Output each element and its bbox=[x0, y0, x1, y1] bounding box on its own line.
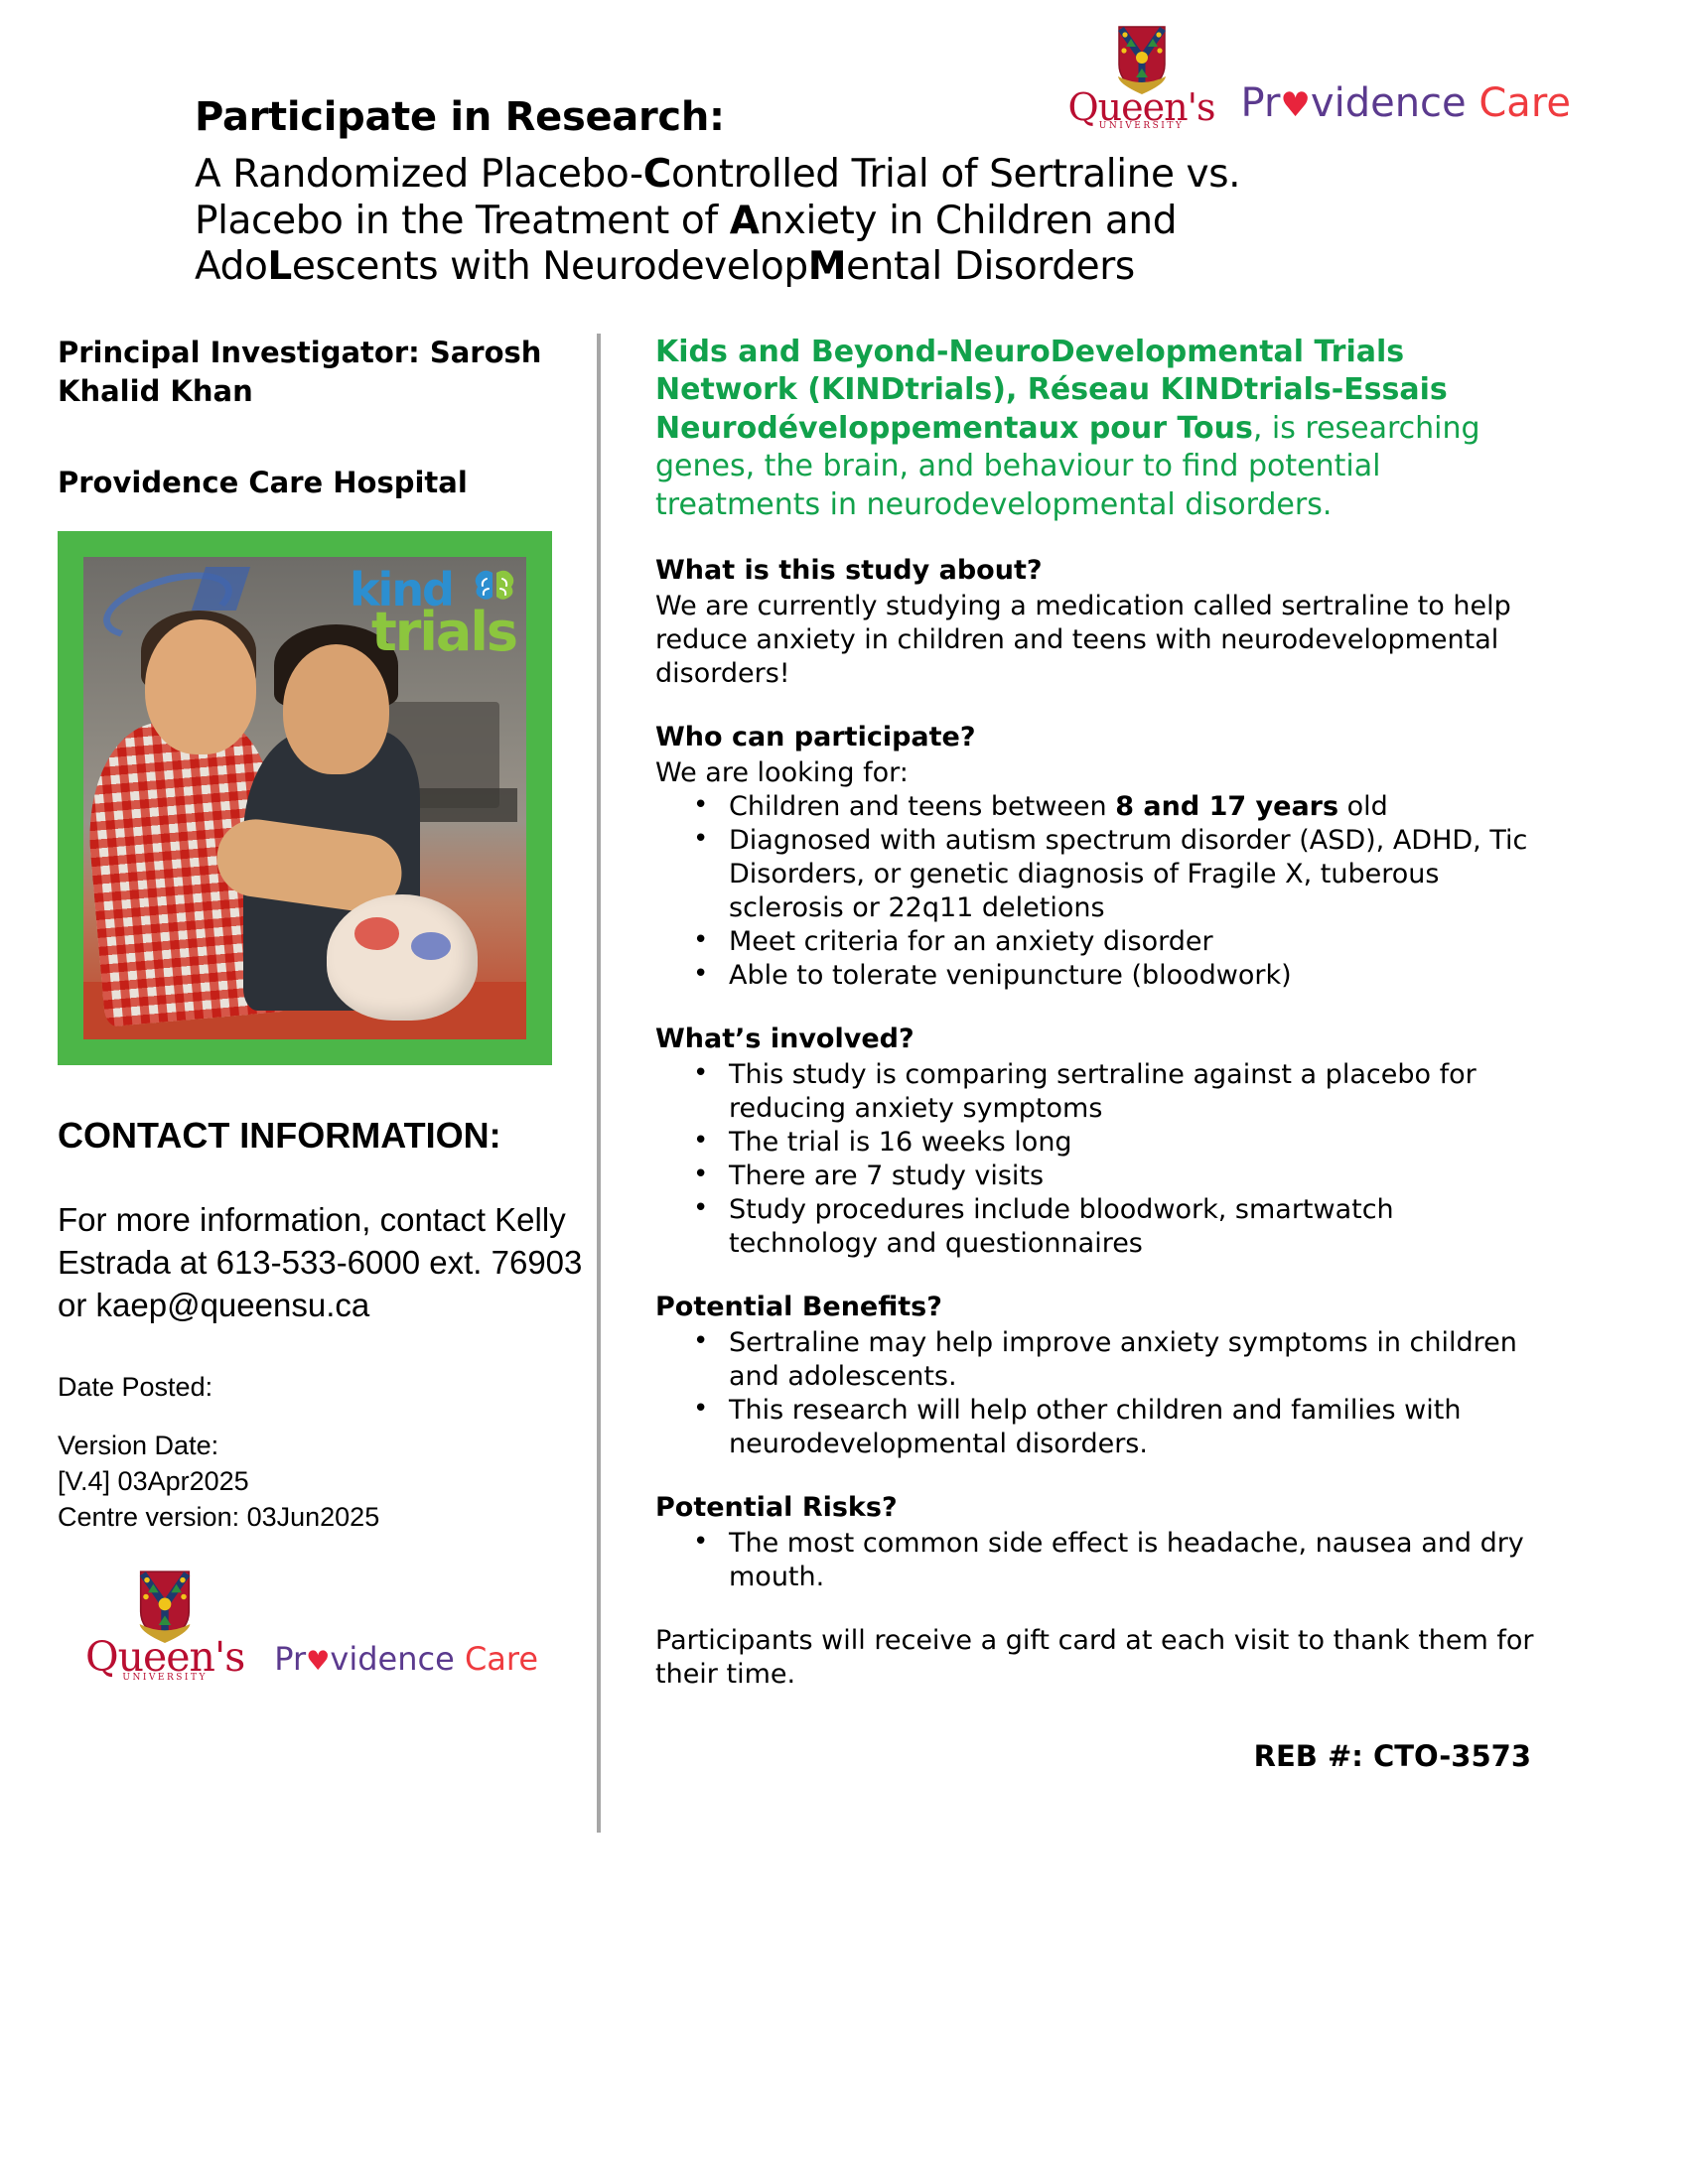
section-3: Potential Benefits?Sertraline may help i… bbox=[655, 1291, 1539, 1461]
page-title: A Randomized Placebo-Controlled Trial of… bbox=[195, 152, 1376, 291]
trials-word: trials bbox=[371, 610, 516, 654]
footer-logos: Queen's UNIVERSITY Pr♥vidence Care bbox=[85, 1570, 594, 1683]
section-heading: What’s involved? bbox=[655, 1023, 1539, 1056]
providence-care-word-footer: Care bbox=[465, 1640, 538, 1678]
title-part-0: A Randomized Placebo- bbox=[195, 152, 643, 197]
list-item-emphasis: 8 and 17 years bbox=[1115, 791, 1338, 822]
list-item: Sertraline may help improve anxiety symp… bbox=[729, 1326, 1539, 1394]
date-posted-label: Date Posted: bbox=[58, 1369, 594, 1405]
date-gap bbox=[58, 1406, 594, 1428]
section-paragraph: We are currently studying a medication c… bbox=[655, 590, 1539, 691]
list-item: The trial is 16 weeks long bbox=[729, 1126, 1539, 1160]
queens-university-logo-footer: Queen's UNIVERSITY bbox=[85, 1570, 244, 1683]
list-item-text-tail: old bbox=[1338, 791, 1388, 822]
section-2: What’s involved?This study is comparing … bbox=[655, 1023, 1539, 1261]
list-item-text: Able to tolerate venipuncture (bloodwork… bbox=[729, 960, 1292, 991]
title-part-7: M bbox=[808, 244, 846, 289]
section-0: What is this study about?We are currentl… bbox=[655, 554, 1539, 691]
right-column: Kids and Beyond-NeuroDevelopmental Trial… bbox=[655, 334, 1539, 1773]
list-item-text: The most common side effect is headache,… bbox=[729, 1528, 1524, 1592]
list-item-text: Sertraline may help improve anxiety symp… bbox=[729, 1327, 1517, 1392]
section-bullet-list: This study is comparing sertraline again… bbox=[655, 1058, 1539, 1261]
heart-icon-footer: ♥ bbox=[306, 1646, 330, 1677]
queens-wordmark-sub-footer: UNIVERSITY bbox=[122, 1673, 208, 1683]
list-item: Diagnosed with autism spectrum disorder … bbox=[729, 824, 1539, 925]
gift-card-note: Participants will receive a gift card at… bbox=[655, 1624, 1539, 1692]
queens-crest-icon bbox=[1115, 25, 1169, 94]
reb-number: REB #: CTO-3573 bbox=[655, 1739, 1539, 1773]
list-item: Meet criteria for an anxiety disorder bbox=[729, 925, 1539, 959]
list-item-text: This study is comparing sertraline again… bbox=[729, 1059, 1477, 1124]
section-bullet-list: Children and teens between 8 and 17 year… bbox=[655, 790, 1539, 993]
providence-suffix-footer: vidence bbox=[330, 1640, 454, 1678]
list-item: This research will help other children a… bbox=[729, 1394, 1539, 1461]
photo-child-two-head bbox=[283, 644, 389, 774]
section-heading: Potential Benefits? bbox=[655, 1291, 1539, 1324]
hospital-name: Providence Care Hospital bbox=[58, 466, 594, 499]
list-item-text: This research will help other children a… bbox=[729, 1395, 1461, 1459]
queens-crest-icon-footer bbox=[136, 1570, 194, 1643]
section-bullet-list: The most common side effect is headache,… bbox=[655, 1527, 1539, 1594]
list-item-text: Study procedures include bloodwork, smar… bbox=[729, 1194, 1394, 1259]
list-item: Children and teens between 8 and 17 year… bbox=[729, 790, 1539, 824]
title-part-5: L bbox=[267, 244, 291, 289]
providence-prefix-footer: Pr bbox=[274, 1640, 306, 1678]
section-1: Who can participate?We are looking for:C… bbox=[655, 721, 1539, 993]
photo-brain-model bbox=[327, 894, 478, 1020]
section-4: Potential Risks?The most common side eff… bbox=[655, 1491, 1539, 1594]
list-item: Able to tolerate venipuncture (bloodwork… bbox=[729, 959, 1539, 993]
queens-wordmark-footer: Queen's bbox=[85, 1639, 244, 1676]
contact-details: For more information, contact Kelly Estr… bbox=[58, 1199, 594, 1327]
list-item: This study is comparing sertraline again… bbox=[729, 1058, 1539, 1126]
section-heading: Who can participate? bbox=[655, 721, 1539, 754]
centre-version: Centre version: 03Jun2025 bbox=[58, 1499, 594, 1535]
column-divider bbox=[597, 334, 601, 1833]
photo-child-one-head bbox=[145, 619, 256, 754]
content-sections: What is this study about?We are currentl… bbox=[655, 554, 1539, 1594]
title-part-3: A bbox=[730, 199, 760, 243]
section-heading: What is this study about? bbox=[655, 554, 1539, 588]
kindtrials-logo: kind trials bbox=[350, 571, 516, 654]
posting-dates: Date Posted: Version Date: [V.4] 03Apr20… bbox=[58, 1369, 594, 1536]
version-date-value: [V.4] 03Apr2025 bbox=[58, 1463, 594, 1499]
title-part-6: escents with Neurodevelop bbox=[292, 244, 808, 289]
brain-icon bbox=[467, 567, 522, 611]
section-paragraph: We are looking for: bbox=[655, 756, 1539, 790]
version-date-label: Version Date: bbox=[58, 1428, 594, 1463]
list-item: The most common side effect is headache,… bbox=[729, 1527, 1539, 1594]
list-item: Study procedures include bloodwork, smar… bbox=[729, 1193, 1539, 1261]
title-block: Participate in Research: A Randomized Pl… bbox=[195, 95, 1376, 291]
list-item-text: The trial is 16 weeks long bbox=[729, 1127, 1072, 1158]
study-photo-frame: kind trials bbox=[58, 531, 552, 1065]
contact-heading: CONTACT INFORMATION: bbox=[58, 1113, 594, 1158]
section-heading: Potential Risks? bbox=[655, 1491, 1539, 1525]
page-header: Queen's UNIVERSITY Pr♥vidence Care Parti… bbox=[0, 0, 1688, 328]
study-photo: kind trials bbox=[83, 557, 526, 1039]
title-part-8: ental Disorders bbox=[846, 244, 1135, 289]
principal-investigator: Principal Investigator: Sarosh Khalid Kh… bbox=[58, 334, 594, 410]
providence-care-word: Care bbox=[1478, 80, 1571, 126]
list-item-text: Meet criteria for an anxiety disorder bbox=[729, 926, 1213, 957]
list-item-text: Diagnosed with autism spectrum disorder … bbox=[729, 825, 1527, 923]
study-network-intro: Kids and Beyond-NeuroDevelopmental Trial… bbox=[655, 334, 1539, 524]
section-bullet-list: Sertraline may help improve anxiety symp… bbox=[655, 1326, 1539, 1461]
list-item: There are 7 study visits bbox=[729, 1160, 1539, 1193]
title-part-1: C bbox=[643, 152, 671, 197]
page-heading: Participate in Research: bbox=[195, 95, 1376, 140]
list-item-text: There are 7 study visits bbox=[729, 1160, 1044, 1191]
list-item-text: Children and teens between bbox=[729, 791, 1115, 822]
providence-care-logo-footer: Pr♥vidence Care bbox=[274, 1643, 538, 1683]
left-column: Principal Investigator: Sarosh Khalid Kh… bbox=[58, 334, 594, 1683]
